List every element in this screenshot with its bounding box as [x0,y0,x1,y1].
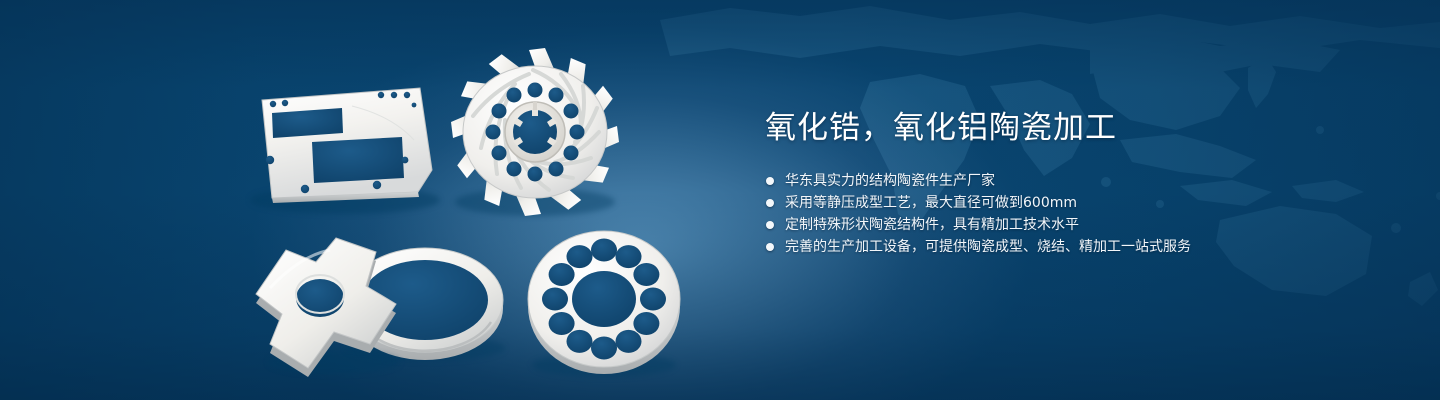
bullet-dot-icon [766,243,774,251]
bullet-dot-icon [766,177,774,185]
list-item: 采用等静压成型工艺，最大直径可做到600mm [765,192,1385,214]
list-item: 华东具实力的结构陶瓷件生产厂家 [765,170,1385,192]
bullet-dot-icon [766,199,774,207]
list-item-label: 华东具实力的结构陶瓷件生产厂家 [785,173,995,189]
bullet-dot-icon [766,221,774,229]
hero-banner: 氧化锆，氧化铝陶瓷加工 华东具实力的结构陶瓷件生产厂家 采用等静压成型工艺，最大… [0,0,1440,400]
list-item-label: 采用等静压成型工艺，最大直径可做到600mm [785,195,1077,211]
banner-copy: 氧化锆，氧化铝陶瓷加工 华东具实力的结构陶瓷件生产厂家 采用等静压成型工艺，最大… [765,108,1385,258]
list-item-label: 完善的生产加工设备，可提供陶瓷成型、烧结、精加工一站式服务 [785,239,1191,255]
feature-list: 华东具实力的结构陶瓷件生产厂家 采用等静压成型工艺，最大直径可做到600mm 定… [765,170,1385,258]
ceramic-plate [250,88,440,214]
ceramic-parts-artwork [0,0,760,400]
page-title: 氧化锆，氧化铝陶瓷加工 [765,108,1385,148]
list-item: 定制特殊形状陶瓷结构件，具有精加工技术水平 [765,214,1385,236]
ceramic-perforated-disc [528,231,680,377]
list-item: 完善的生产加工设备，可提供陶瓷成型、烧结、精加工一站式服务 [765,236,1385,258]
ceramic-impeller [451,48,619,216]
list-item-label: 定制特殊形状陶瓷结构件，具有精加工技术水平 [785,217,1079,233]
